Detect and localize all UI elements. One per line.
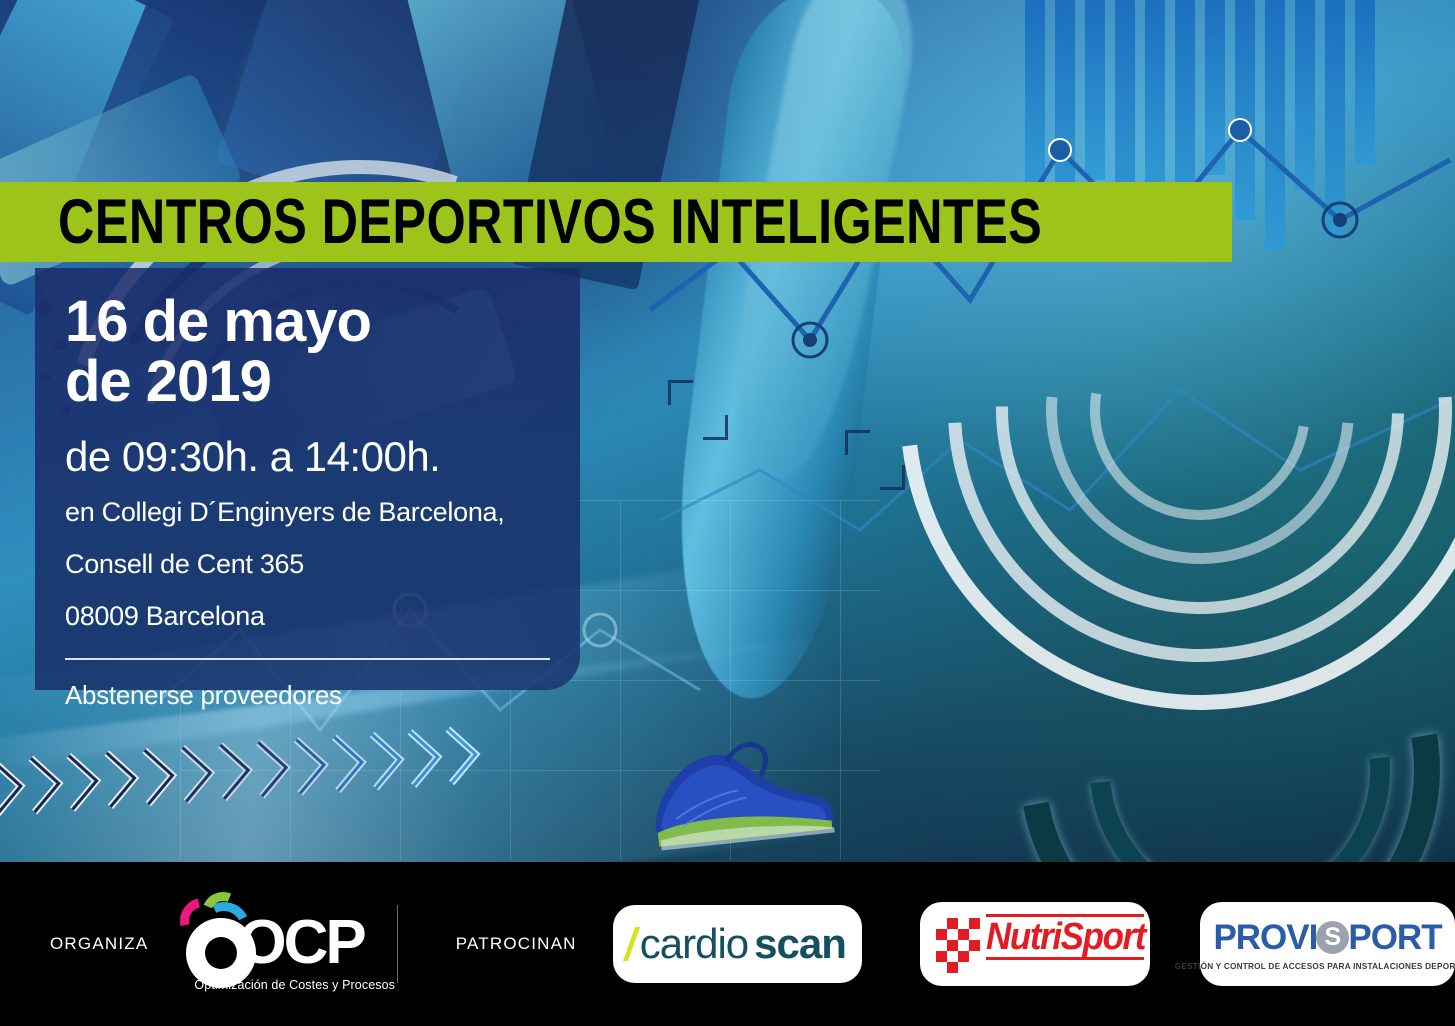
organizer-label: ORGANIZA bbox=[50, 934, 148, 954]
title-banner: CENTROS DEPORTIVOS INTELIGENTES bbox=[0, 182, 1232, 262]
reticle-frame-icon bbox=[668, 380, 728, 440]
footer-divider bbox=[397, 905, 398, 983]
cardioscan-logo[interactable]: cardioscan bbox=[613, 905, 862, 983]
event-city: 08009 Barcelona bbox=[65, 596, 550, 636]
cardioscan-slash-icon bbox=[623, 927, 640, 961]
provisport-name-part1: PROVI bbox=[1213, 918, 1317, 958]
cardioscan-name-bold: scan bbox=[754, 920, 846, 968]
provisport-name-part3: PORT bbox=[1348, 918, 1441, 958]
provisport-name: PROVI S PORT bbox=[1213, 918, 1441, 958]
event-info-panel: 16 de mayo de 2019 de 09:30h. a 14:00h. … bbox=[35, 268, 580, 690]
reticle-frame-icon bbox=[845, 430, 905, 490]
nutrisport-name: NutriSport bbox=[986, 917, 1145, 957]
panel-divider bbox=[65, 658, 550, 660]
cardioscan-name-light: cardio bbox=[640, 920, 748, 968]
event-hours: de 09:30h. a 14:00h. bbox=[65, 434, 550, 480]
ocp-cp-letters: OCP bbox=[238, 912, 363, 974]
nutrisport-logo[interactable]: NutriSport bbox=[920, 902, 1150, 986]
event-date-line1: 16 de mayo bbox=[65, 292, 550, 352]
sponsors-label: PATROCINAN bbox=[456, 934, 577, 954]
nutrisport-checker-icon bbox=[936, 918, 982, 970]
event-date-line2: de 2019 bbox=[65, 352, 550, 412]
event-note: Abstenerse proveedores bbox=[65, 680, 550, 711]
event-street: Consell de Cent 365 bbox=[65, 544, 550, 584]
event-poster: CENTROS DEPORTIVOS INTELIGENTES 16 de ma… bbox=[0, 0, 1455, 1026]
ocp-logo[interactable]: OCP Optimización de Costes y Procesos bbox=[172, 892, 334, 997]
provisport-tagline: GESTIÓN Y CONTROL DE ACCESOS PARA INSTAL… bbox=[1175, 962, 1455, 971]
ocp-tagline: Optimización de Costes y Procesos bbox=[194, 978, 395, 992]
provisport-s-circle-icon: S bbox=[1316, 921, 1349, 954]
chevron-right-icon bbox=[444, 722, 492, 787]
page-title: CENTROS DEPORTIVOS INTELIGENTES bbox=[58, 190, 1042, 254]
provisport-logo[interactable]: PROVI S PORT GESTIÓN Y CONTROL DE ACCESO… bbox=[1200, 902, 1455, 986]
event-venue: en Collegi D´Enginyers de Barcelona, bbox=[65, 492, 550, 532]
sponsor-footer: ORGANIZA OCP Optimización de Costes y Pr… bbox=[0, 862, 1455, 1026]
